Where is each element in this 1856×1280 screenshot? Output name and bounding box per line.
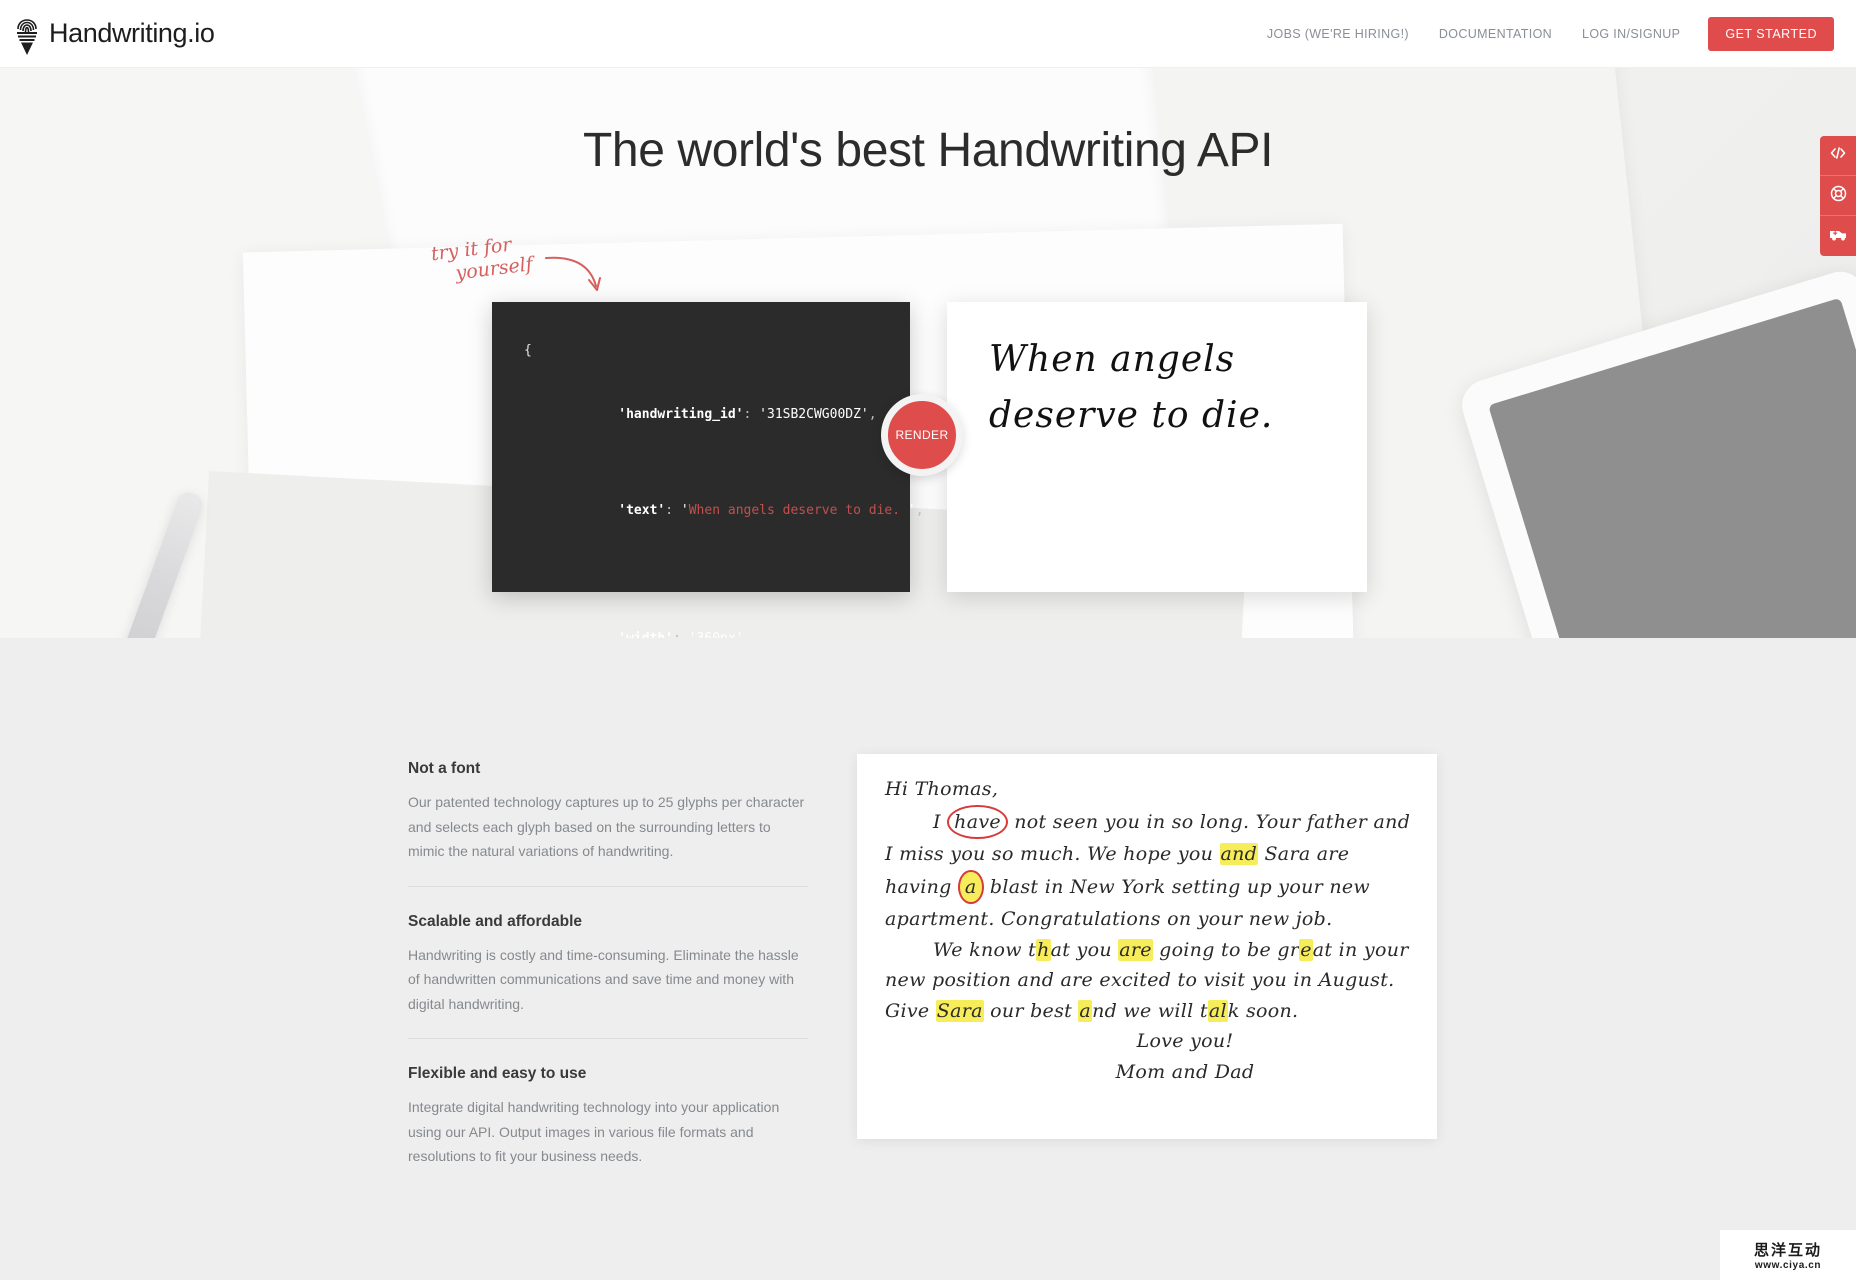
code-request-panel[interactable]: { 'handwriting_id': '31SB2CWG00DZ', 'tex… [492, 302, 910, 592]
render-output-panel: When angels deserve to die. [947, 302, 1367, 592]
code-brackets-icon [1830, 146, 1846, 165]
feature-body: Handwriting is costly and time-consuming… [408, 943, 808, 1017]
rendered-handwriting-text: When angels deserve to die. [989, 332, 1319, 444]
lifebuoy-help-icon [1830, 185, 1847, 207]
features-section: Not a font Our patented technology captu… [0, 638, 1856, 1280]
nav-item-jobs[interactable]: JOBS (WE'RE HIRING!) [1252, 27, 1424, 41]
letter-text: Hi Thomas, I have not seen you in so lon… [885, 774, 1415, 1087]
highlighted-and: and [1220, 843, 1259, 865]
curved-arrow-icon [544, 252, 604, 303]
code-blank-line [524, 559, 910, 591]
highlighted-sara: Sara [936, 1000, 984, 1022]
code-line-handwriting-id: 'handwriting_id': '31SB2CWG00DZ', [524, 367, 910, 463]
highlighted-a: a [1078, 1000, 1092, 1022]
feature-list: Not a font Our patented technology captu… [408, 760, 808, 1191]
letter-greeting: Hi Thomas, [885, 774, 1415, 805]
side-dock [1820, 136, 1856, 256]
feature-block-flexible: Flexible and easy to use Integrate digit… [408, 1038, 808, 1191]
dock-help-button[interactable] [1820, 176, 1856, 216]
code-text-value: When angels deserve to die. [689, 503, 908, 518]
circled-letter-have: have [947, 805, 1008, 840]
code-line-text: 'text': 'When angels deserve to die. ', [524, 463, 910, 559]
feature-heading: Not a font [408, 760, 808, 778]
highlighted-e: e [1299, 939, 1313, 961]
render-button[interactable]: RENDER [881, 394, 963, 476]
brand-name: Handwriting.io [49, 18, 214, 49]
ambulance-support-icon [1829, 227, 1848, 246]
fingerprint-pen-nib-logo-icon [14, 11, 40, 57]
try-it-annotation: try it for yourself [432, 236, 552, 280]
nav-item-login-signup[interactable]: LOG IN/SIGNUP [1567, 27, 1695, 41]
feature-heading: Flexible and easy to use [408, 1065, 808, 1083]
circled-letter-a: a [958, 870, 984, 905]
feature-body: Our patented technology captures up to 2… [408, 790, 808, 864]
handwritten-letter-sample: Hi Thomas, I have not seen you in so lon… [857, 754, 1437, 1139]
code-line-width: 'width': '360px', [524, 591, 910, 638]
highlighted-al: al [1208, 1000, 1228, 1022]
feature-block-scalable: Scalable and affordable Handwriting is c… [408, 886, 808, 1039]
code-line-open-brace: { [524, 335, 910, 367]
brand-logo[interactable]: Handwriting.io [14, 11, 214, 57]
feature-body: Integrate digital handwriting technology… [408, 1095, 808, 1169]
highlighted-are: are [1118, 939, 1153, 961]
site-watermark: 思洋互动 www.ciya.cn [1720, 1230, 1856, 1280]
watermark-chinese-text: 思洋互动 [1754, 1239, 1822, 1260]
hero-section: The world's best Handwriting API try it … [0, 68, 1856, 638]
watermark-url: www.ciya.cn [1755, 1260, 1821, 1271]
dock-code-button[interactable] [1820, 136, 1856, 176]
feature-block-not-a-font: Not a font Our patented technology captu… [408, 760, 808, 886]
letter-signoff: Love you! [885, 1026, 1415, 1057]
letter-paragraph-2: We know that you are going to be great i… [885, 935, 1415, 1027]
main-nav: JOBS (WE'RE HIRING!) DOCUMENTATION LOG I… [1252, 17, 1834, 51]
letter-paragraph-1: I have not seen you in so long. Your fat… [885, 805, 1415, 935]
get-started-button[interactable]: GET STARTED [1708, 17, 1834, 51]
feature-heading: Scalable and affordable [408, 913, 808, 931]
page-root: Handwriting.io JOBS (WE'RE HIRING!) DOCU… [0, 0, 1856, 1280]
hero-title: The world's best Handwriting API [0, 123, 1856, 178]
nav-item-documentation[interactable]: DOCUMENTATION [1424, 27, 1567, 41]
try-it-annotation-text: try it for yourself [430, 229, 554, 287]
site-header: Handwriting.io JOBS (WE'RE HIRING!) DOCU… [0, 0, 1856, 68]
highlighted-h: h [1036, 939, 1051, 961]
dock-support-button[interactable] [1820, 216, 1856, 256]
letter-signature: Mom and Dad [885, 1057, 1415, 1088]
